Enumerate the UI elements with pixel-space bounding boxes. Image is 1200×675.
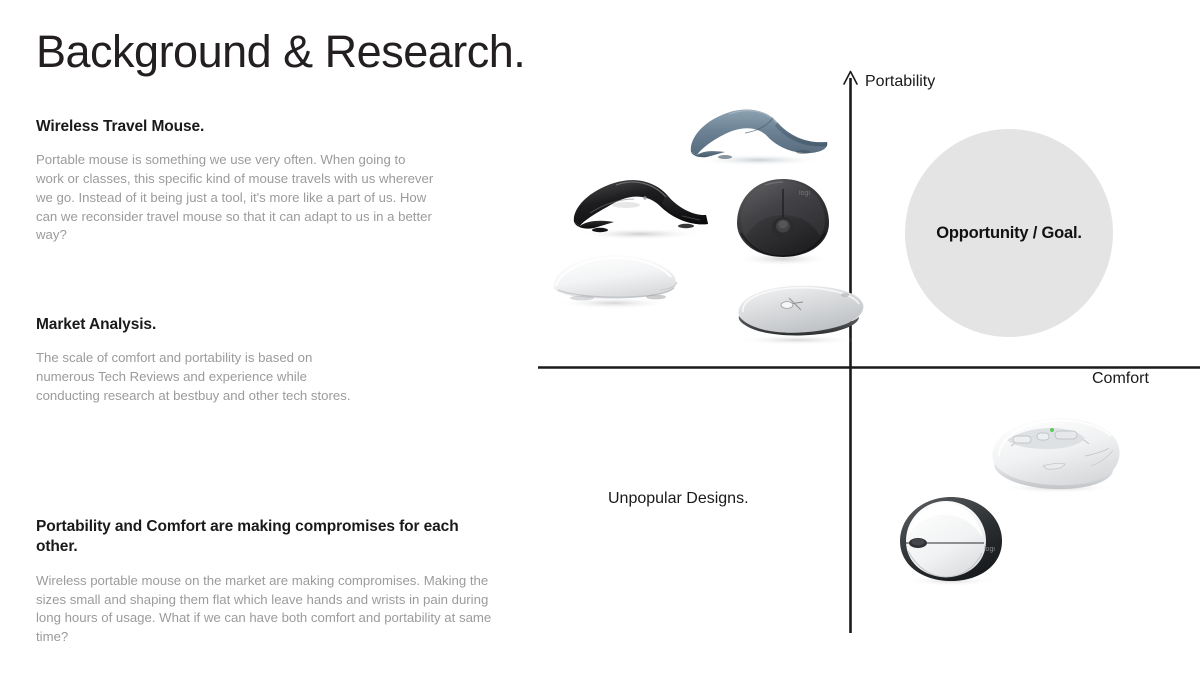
section-heading: Portability and Comfort are making compr… — [36, 517, 496, 558]
section-wireless-travel-mouse: Wireless Travel Mouse. Portable mouse is… — [36, 117, 436, 245]
left-text-column: Background & Research. Wireless Travel M… — [36, 0, 516, 675]
unpopular-designs-label: Unpopular Designs. — [608, 490, 749, 508]
mouse-image-arc-blue — [685, 100, 835, 166]
section-market-analysis: Market Analysis. The scale of comfort an… — [36, 315, 366, 406]
mouse-image-flat-silver — [725, 278, 869, 346]
y-axis-label: Portability — [865, 73, 935, 91]
x-axis-label: Comfort — [1092, 370, 1149, 388]
section-portability-comfort-compromise: Portability and Comfort are making compr… — [36, 517, 496, 647]
mouse-image-contoured-white-black: logi — [888, 493, 1014, 587]
section-heading: Market Analysis. — [36, 315, 366, 335]
mouse-image-ergonomic-white — [985, 412, 1127, 494]
section-body: The scale of comfort and portability is … — [36, 349, 366, 405]
section-body: Wireless portable mouse on the market ar… — [36, 572, 496, 647]
mouse-image-white-slim — [548, 248, 684, 310]
y-axis-arrowhead-icon — [844, 72, 857, 85]
section-body: Portable mouse is something we use very … — [36, 151, 436, 245]
opportunity-goal-circle: Opportunity / Goal. — [905, 129, 1113, 337]
mouse-image-pebble-dark: logi — [725, 175, 841, 267]
positioning-matrix: Portability Comfort Opportunity / Goal. … — [520, 0, 1200, 675]
svg-text:logi: logi — [799, 190, 810, 197]
svg-text:logi: logi — [984, 546, 995, 553]
opportunity-goal-label: Opportunity / Goal. — [936, 224, 1082, 243]
section-heading: Wireless Travel Mouse. — [36, 117, 436, 137]
page-title: Background & Research. — [36, 26, 525, 78]
mouse-image-arc-black — [570, 168, 716, 240]
